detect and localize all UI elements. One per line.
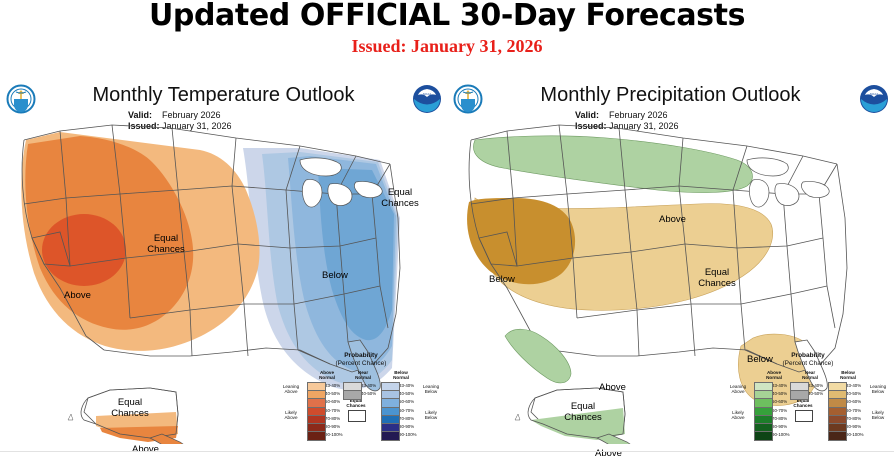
legend-temperature: Probability (Percent Chance) Above Norma… bbox=[281, 352, 441, 444]
legend-swatch-label: 40-50% bbox=[399, 391, 421, 396]
alaska-precipitation bbox=[477, 388, 647, 444]
legend-swatch bbox=[790, 390, 809, 400]
legend-swatch-label: 60-70% bbox=[772, 408, 794, 413]
legend-swatch-label: 80-90% bbox=[325, 424, 347, 429]
legend-swatch bbox=[343, 390, 362, 400]
precip-above-north-region bbox=[473, 136, 752, 193]
temp-above-likely-core bbox=[42, 214, 126, 286]
legend-swatch-label: 40-50% bbox=[361, 391, 383, 396]
legend-leaning-above-label: Leaning Above bbox=[726, 384, 750, 395]
legend-col-near-header: Near Normal bbox=[343, 370, 383, 380]
legend-swatch-label: 40-50% bbox=[808, 391, 830, 396]
legend-swatch-label: 60-70% bbox=[399, 408, 421, 413]
page-title: Updated OFFICIAL 30-Day Forecasts bbox=[0, 0, 894, 33]
legend-swatch-label: 50-60% bbox=[846, 399, 868, 404]
legend-title: Probability bbox=[281, 352, 441, 360]
precip-below-west-core bbox=[467, 198, 575, 284]
legend-leaning-below-label: Leaning Below bbox=[866, 384, 890, 395]
label-above-alaska: Above bbox=[132, 444, 159, 455]
great-lakes bbox=[747, 158, 829, 207]
legend-swatch-label: 80-90% bbox=[772, 424, 794, 429]
issued-date: Issued: January 31, 2026 bbox=[0, 36, 894, 57]
legend-swatch-label: 33-40% bbox=[808, 383, 830, 388]
legend-precipitation: Probability (Percent Chance) Above Norma… bbox=[728, 352, 888, 444]
legend-col-above-header: Above Normal bbox=[307, 370, 347, 380]
legend-swatch-label: 70-80% bbox=[399, 416, 421, 421]
legend-swatch-label: 50-60% bbox=[325, 399, 347, 404]
legend-equal-chances-swatch bbox=[795, 410, 813, 422]
legend-swatch-label: 80-90% bbox=[399, 424, 421, 429]
legend-likely-below-label: Likely Below bbox=[419, 410, 443, 421]
legend-likely-below-label: Likely Below bbox=[866, 410, 890, 421]
label-above-alaska: Above bbox=[595, 448, 622, 459]
precip-above-alaska-panhandle bbox=[505, 329, 571, 383]
legend-swatch-label: 70-80% bbox=[325, 416, 347, 421]
legend-swatch-label: 90-100% bbox=[772, 432, 794, 437]
legend-swatch-label: 80-90% bbox=[846, 424, 868, 429]
legend-swatch-label: 70-80% bbox=[846, 416, 868, 421]
forecast-page: Updated OFFICIAL 30-Day Forecasts Issued… bbox=[0, 0, 894, 459]
legend-swatch bbox=[828, 431, 847, 441]
legend-swatch-label: 33-40% bbox=[361, 383, 383, 388]
legend-likely-above-label: Likely Above bbox=[726, 410, 750, 421]
legend-leaning-above-label: Leaning Above bbox=[279, 384, 303, 395]
legend-swatch bbox=[754, 431, 773, 441]
legend-subtitle: (Percent Chance) bbox=[728, 360, 888, 368]
legend-swatch bbox=[307, 431, 326, 441]
panel-precipitation-outlook: NOAA Monthly Precipitation Outlook Valid… bbox=[447, 72, 894, 444]
footer-divider bbox=[0, 451, 894, 452]
legend-swatch-label: 40-50% bbox=[846, 391, 868, 396]
legend-swatch-label: 70-80% bbox=[772, 416, 794, 421]
legend-swatch-label: 60-70% bbox=[846, 408, 868, 413]
legend-equal-chances-swatch bbox=[348, 410, 366, 422]
legend-swatch-label: 60-70% bbox=[325, 408, 347, 413]
legend-leaning-below-label: Leaning Below bbox=[419, 384, 443, 395]
legend-title: Probability bbox=[728, 352, 888, 360]
alaska-temperature bbox=[30, 388, 200, 444]
legend-col-below-header: Below Normal bbox=[381, 370, 421, 380]
legend-subtitle: (Percent Chance) bbox=[281, 360, 441, 368]
legend-col-below-header: Below Normal bbox=[828, 370, 868, 380]
legend-swatch-label: 90-100% bbox=[325, 432, 347, 437]
legend-swatch bbox=[381, 431, 400, 441]
legend-swatch-label: 50-60% bbox=[399, 399, 421, 404]
legend-swatch-label: 50-60% bbox=[772, 399, 794, 404]
legend-swatch-label: 90-100% bbox=[399, 432, 421, 437]
panel-temperature-outlook: NOAA Monthly Temperature Outlook Valid:F… bbox=[0, 72, 447, 444]
legend-swatch-label: 33-40% bbox=[399, 383, 421, 388]
legend-swatch-label: 90-100% bbox=[846, 432, 868, 437]
legend-likely-above-label: Likely Above bbox=[279, 410, 303, 421]
legend-col-near-header: Near Normal bbox=[790, 370, 830, 380]
legend-swatch-label: 33-40% bbox=[846, 383, 868, 388]
legend-col-above-header: Above Normal bbox=[754, 370, 794, 380]
